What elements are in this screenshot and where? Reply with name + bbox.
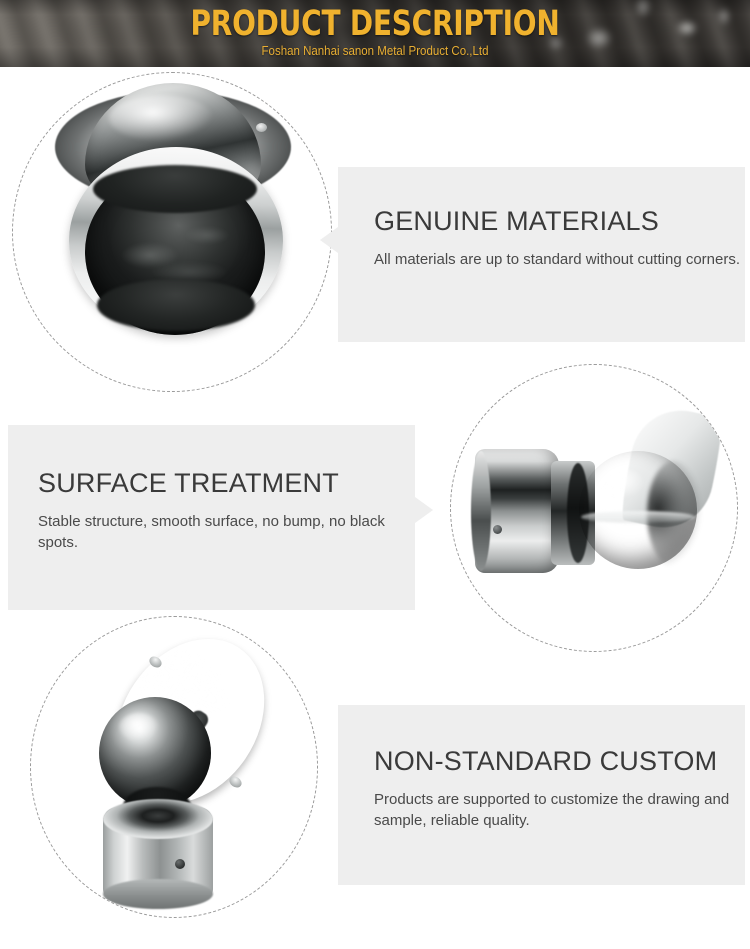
product-photo-surface-treatment xyxy=(450,364,738,652)
mount-ball-highlight-shape xyxy=(119,713,159,741)
feature-panel-genuine-materials: GENUINE MATERIALS All materials are up t… xyxy=(338,167,745,342)
mount-plate-hole-bottom-shape xyxy=(227,774,243,790)
product-photo-2-inner xyxy=(451,365,737,651)
feature-panel-non-standard-custom: NON-STANDARD CUSTOM Products are support… xyxy=(338,705,745,885)
feature-title-non-standard-custom: NON-STANDARD CUSTOM xyxy=(374,745,745,777)
bumper-flange-hole-shape xyxy=(256,123,267,132)
joint-ball-band-shape xyxy=(581,511,695,523)
feature-panel-1-content: GENUINE MATERIALS All materials are up t… xyxy=(338,167,745,270)
product-photo-non-standard-custom xyxy=(30,616,318,918)
page-header-banner: PRODUCT DESCRIPTION Foshan Nanhai sanon … xyxy=(0,0,750,67)
panel-arrow-left-icon xyxy=(320,227,338,253)
mount-cylinder-screw-shape xyxy=(175,859,185,869)
feature-panel-3-content: NON-STANDARD CUSTOM Products are support… xyxy=(338,705,745,831)
mount-cylinder-bottom-shape xyxy=(103,879,213,909)
feature-panel-2-content: SURFACE TREATMENT Stable structure, smoo… xyxy=(8,425,415,553)
mount-cylinder-top-shape xyxy=(103,799,213,839)
joint-ball-highlight-shape xyxy=(601,469,645,499)
bumper-dome-lip-shape xyxy=(93,165,257,213)
company-name-subtitle: Foshan Nanhai sanon Metal Product Co.,Lt… xyxy=(30,43,720,59)
bumper-cap-highlight-shape xyxy=(109,95,213,141)
joint-barrel-screw-shape xyxy=(493,525,502,534)
feature-title-genuine-materials: GENUINE MATERIALS xyxy=(374,205,745,237)
page-title: PRODUCT DESCRIPTION xyxy=(75,6,675,42)
feature-body-genuine-materials: All materials are up to standard without… xyxy=(374,249,745,270)
feature-panel-surface-treatment: SURFACE TREATMENT Stable structure, smoo… xyxy=(8,425,415,610)
joint-barrel-face-shape xyxy=(471,451,491,571)
feature-body-surface-treatment: Stable structure, smooth surface, no bum… xyxy=(38,511,415,553)
panel-arrow-right-icon xyxy=(415,497,433,523)
product-photo-1-inner xyxy=(13,73,331,391)
product-photo-genuine-materials xyxy=(12,72,332,392)
feature-title-surface-treatment: SURFACE TREATMENT xyxy=(38,467,415,499)
product-photo-3-inner xyxy=(31,617,317,917)
feature-body-non-standard-custom: Products are supported to customize the … xyxy=(374,789,745,831)
bumper-dome-base-shape xyxy=(97,279,255,331)
